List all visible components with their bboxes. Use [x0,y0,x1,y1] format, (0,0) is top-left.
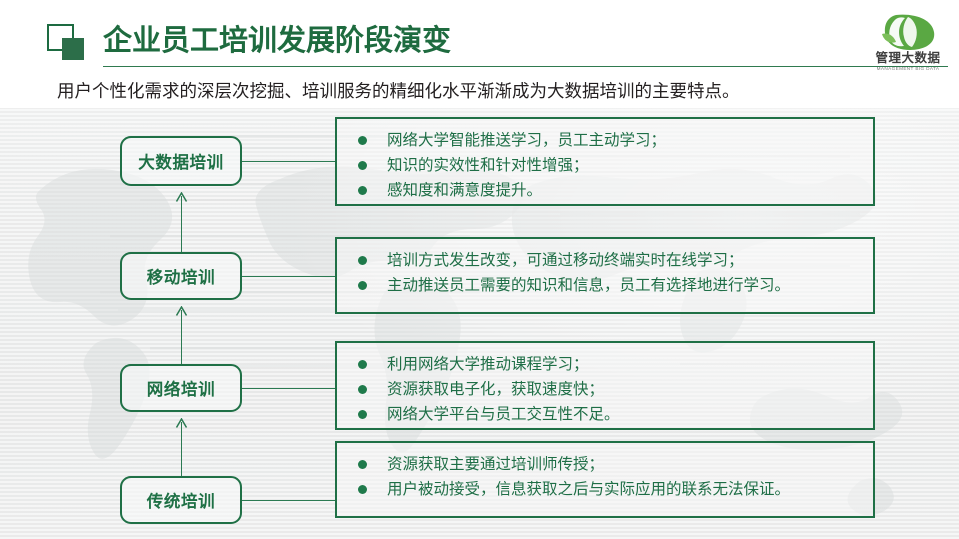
stage-bullet-list-1: 网络大学智能推送学习，员工主动学习； 知识的实效性和针对性增强； 感知度和满意度… [351,128,861,203]
slide-canvas: 企业员工培训发展阶段演变 用户个性化需求的深层次挖掘、培训服务的精细化水平渐渐成… [0,0,959,539]
arrow-up-icon [175,418,188,428]
brand-logo: 管理大数据 MANAGEMENT BIG DATA [866,12,950,74]
list-item: 知识的实效性和针对性增强； [351,153,861,178]
list-item: 利用网络大学推动课程学习； [351,352,861,377]
stage-content-box-4[interactable]: 资源获取主要通过培训师传授； 用户被动接受，信息获取之后与实际应用的联系无法保证… [335,441,875,518]
connector-stage4-to-stage3 [181,422,182,476]
stage-label-text-1: 大数据培训 [138,149,224,173]
logo-name-en: MANAGEMENT BIG DATA [865,65,951,72]
bullet-text: 培训方式发生改变，可通过移动终端实时在线学习； [387,252,744,269]
connector-stage3-to-stage2 [181,310,182,364]
title-underline-rule [103,66,948,67]
list-item: 主动推送员工需要的知识和信息，员工有选择地进行学习。 [351,273,861,298]
title-square-decoration [47,24,87,64]
stage-label-box-3[interactable]: 网络培训 [120,364,242,412]
list-item: 感知度和满意度提升。 [351,178,861,203]
bullet-text: 感知度和满意度提升。 [387,182,542,199]
bullet-dot-icon [358,186,367,195]
list-item: 网络大学智能推送学习，员工主动学习； [351,128,861,153]
bullet-text: 用户被动接受，信息获取之后与实际应用的联系无法保证。 [387,481,790,498]
connector-label-to-content-2 [242,276,335,277]
arrow-up-icon [175,192,188,202]
connector-stage2-to-stage1 [181,196,182,252]
slide-header: 企业员工培训发展阶段演变 用户个性化需求的深层次挖掘、培训服务的精细化水平渐渐成… [0,0,959,108]
bullet-text: 网络大学智能推送学习，员工主动学习； [387,132,666,149]
list-item: 用户被动接受，信息获取之后与实际应用的联系无法保证。 [351,477,861,502]
bullet-text: 利用网络大学推动课程学习； [387,356,589,373]
bullet-text: 知识的实效性和针对性增强； [387,157,589,174]
bullet-dot-icon [358,485,367,494]
bullet-text: 主动推送员工需要的知识和信息，员工有选择地进行学习。 [387,277,790,294]
stage-label-box-1[interactable]: 大数据培训 [120,136,242,186]
stage-label-text-3: 网络培训 [147,376,215,400]
connector-label-to-content-1 [242,161,335,162]
connector-label-to-content-4 [242,500,335,501]
bullet-dot-icon [358,256,367,265]
stage-bullet-list-3: 利用网络大学推动课程学习； 资源获取电子化，获取速度快； 网络大学平台与员工交互… [351,352,861,427]
list-item: 资源获取主要通过培训师传授； [351,452,861,477]
bullet-dot-icon [358,460,367,469]
square-filled-shape [62,38,84,60]
page-title: 企业员工培训发展阶段演变 [103,22,451,60]
stage-content-box-2[interactable]: 培训方式发生改变，可通过移动终端实时在线学习； 主动推送员工需要的知识和信息，员… [335,237,875,314]
bullet-text: 资源获取电子化，获取速度快； [387,381,604,398]
page-subtitle: 用户个性化需求的深层次挖掘、培训服务的精细化水平渐渐成为大数据培训的主要特点。 [57,79,740,103]
connector-label-to-content-3 [242,388,335,389]
bullet-text: 网络大学平台与员工交互性不足。 [387,406,620,423]
stage-bullet-list-4: 资源获取主要通过培训师传授； 用户被动接受，信息获取之后与实际应用的联系无法保证… [351,452,861,502]
stage-diagram: 大数据培训 网络大学智能推送学习，员工主动学习； 知识的实效性和针对性增强； 感… [0,108,959,539]
bullet-dot-icon [358,161,367,170]
arrow-up-icon [175,306,188,316]
stage-label-box-4[interactable]: 传统培训 [120,476,242,524]
bullet-text: 资源获取主要通过培训师传授； [387,456,604,473]
bullet-dot-icon [358,360,367,369]
leaf-d-logo-icon [866,12,950,52]
stage-label-text-2: 移动培训 [147,264,215,288]
stage-bullet-list-2: 培训方式发生改变，可通过移动终端实时在线学习； 主动推送员工需要的知识和信息，员… [351,248,861,298]
logo-name-cn: 管理大数据 [866,52,950,65]
bullet-dot-icon [358,410,367,419]
stage-content-box-3[interactable]: 利用网络大学推动课程学习； 资源获取电子化，获取速度快； 网络大学平台与员工交互… [335,341,875,430]
list-item: 资源获取电子化，获取速度快； [351,377,861,402]
list-item: 培训方式发生改变，可通过移动终端实时在线学习； [351,248,861,273]
bullet-dot-icon [358,136,367,145]
bullet-dot-icon [358,385,367,394]
list-item: 网络大学平台与员工交互性不足。 [351,402,861,427]
stage-label-text-4: 传统培训 [147,488,215,512]
bullet-dot-icon [358,281,367,290]
stage-label-box-2[interactable]: 移动培训 [120,252,242,300]
stage-content-box-1[interactable]: 网络大学智能推送学习，员工主动学习； 知识的实效性和针对性增强； 感知度和满意度… [335,117,875,206]
